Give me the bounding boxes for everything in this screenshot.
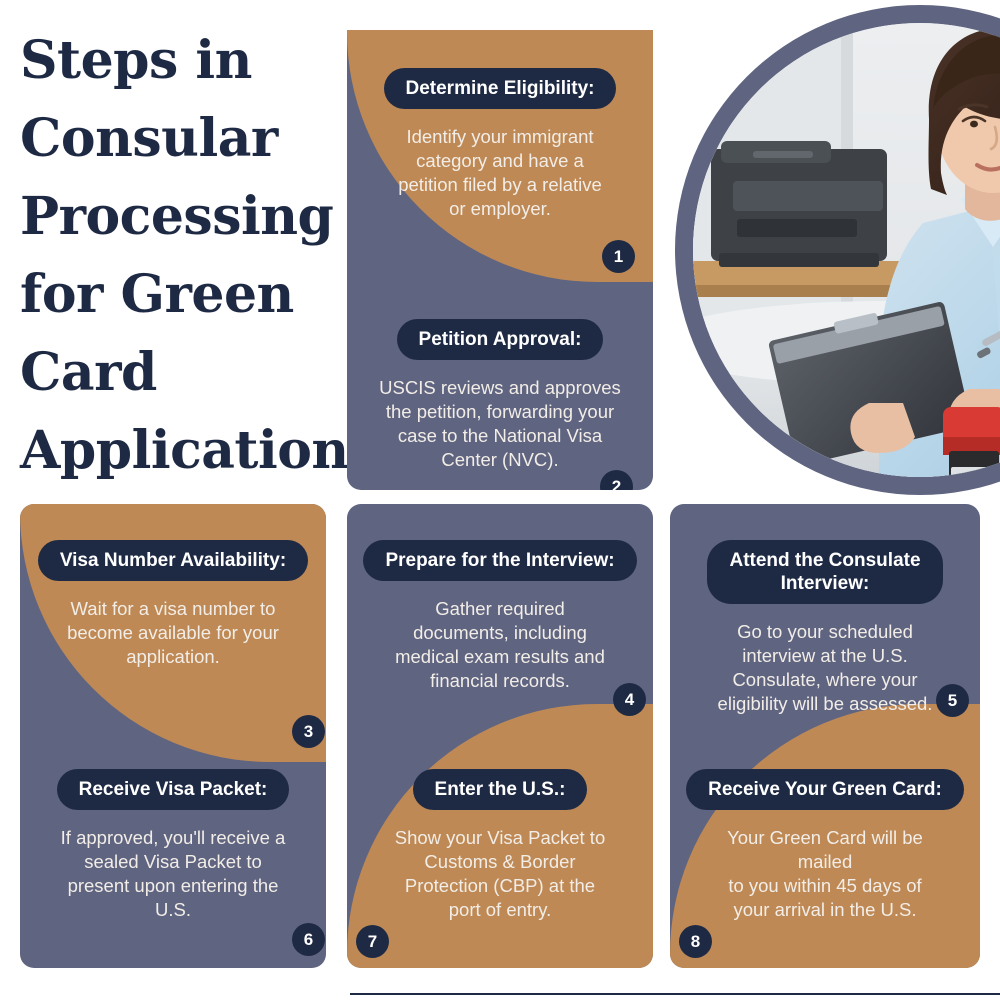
step-7: Enter the U.S.: Show your Visa Packet to… (347, 769, 653, 922)
step-5-heading: Attend the Consulate Interview: (707, 540, 942, 604)
card-steps-5-8: Attend the Consulate Interview: Go to yo… (670, 504, 980, 968)
step-3: Visa Number Availability: Wait for a vis… (20, 540, 326, 669)
step-2-heading: Petition Approval: (397, 319, 604, 360)
title-line-1: Steps in (20, 22, 330, 100)
step-1: Determine Eligibility: Identify your imm… (347, 68, 653, 221)
step-1-body: Identify your immigrant category and hav… (363, 125, 637, 221)
step-6-body: If approved, you'll receive a sealed Vis… (36, 826, 310, 922)
step-1-number-badge: 1 (602, 240, 635, 273)
step-6-heading: Receive Visa Packet: (57, 769, 290, 810)
step-6: Receive Visa Packet: If approved, you'll… (20, 769, 326, 922)
card-steps-1-2: Determine Eligibility: Identify your imm… (347, 30, 653, 490)
step-5-number-badge: 5 (936, 684, 969, 717)
step-7-number-badge: 7 (356, 925, 389, 958)
card-steps-4-7: Prepare for the Interview: Gather requir… (347, 504, 653, 968)
step-7-heading: Enter the U.S.: (413, 769, 588, 810)
title-line-6: Application (20, 412, 330, 490)
infographic-canvas: Steps in Consular Processing for Green C… (0, 0, 1000, 1000)
step-1-heading: Determine Eligibility: (384, 68, 617, 109)
title-line-5: Card (20, 334, 330, 412)
step-5-body: Go to your scheduled interview at the U.… (686, 620, 964, 716)
step-3-number-badge: 3 (292, 715, 325, 748)
step-4: Prepare for the Interview: Gather requir… (347, 540, 653, 693)
step-2-body: USCIS reviews and approves the petition,… (363, 376, 637, 472)
title-line-3: Processing (20, 178, 330, 256)
title-line-2: Consular (20, 100, 330, 178)
card-steps-3-6: Visa Number Availability: Wait for a vis… (20, 504, 326, 968)
title-line-4: for Green (20, 256, 330, 334)
step-8: Receive Your Green Card: Your Green Card… (670, 769, 980, 922)
step-3-heading: Visa Number Availability: (38, 540, 308, 581)
step-4-heading: Prepare for the Interview: (363, 540, 636, 581)
page-title: Steps in Consular Processing for Green C… (20, 22, 330, 490)
step-5: Attend the Consulate Interview: Go to yo… (670, 540, 980, 716)
step-4-number-badge: 4 (613, 683, 646, 716)
step-6-number-badge: 6 (292, 923, 325, 956)
step-8-number-badge: 8 (679, 925, 712, 958)
step-7-body: Show your Visa Packet to Customs & Borde… (363, 826, 637, 922)
step-8-body: Your Green Card will be mailed to you wi… (686, 826, 964, 922)
footer-divider (350, 993, 1000, 995)
step-2: Petition Approval: USCIS reviews and app… (347, 319, 653, 472)
step-8-heading: Receive Your Green Card: (686, 769, 964, 810)
step-4-body: Gather required documents, including med… (363, 597, 637, 693)
step-3-body: Wait for a visa number to become availab… (36, 597, 310, 669)
step-2-number-badge: 2 (600, 470, 633, 490)
